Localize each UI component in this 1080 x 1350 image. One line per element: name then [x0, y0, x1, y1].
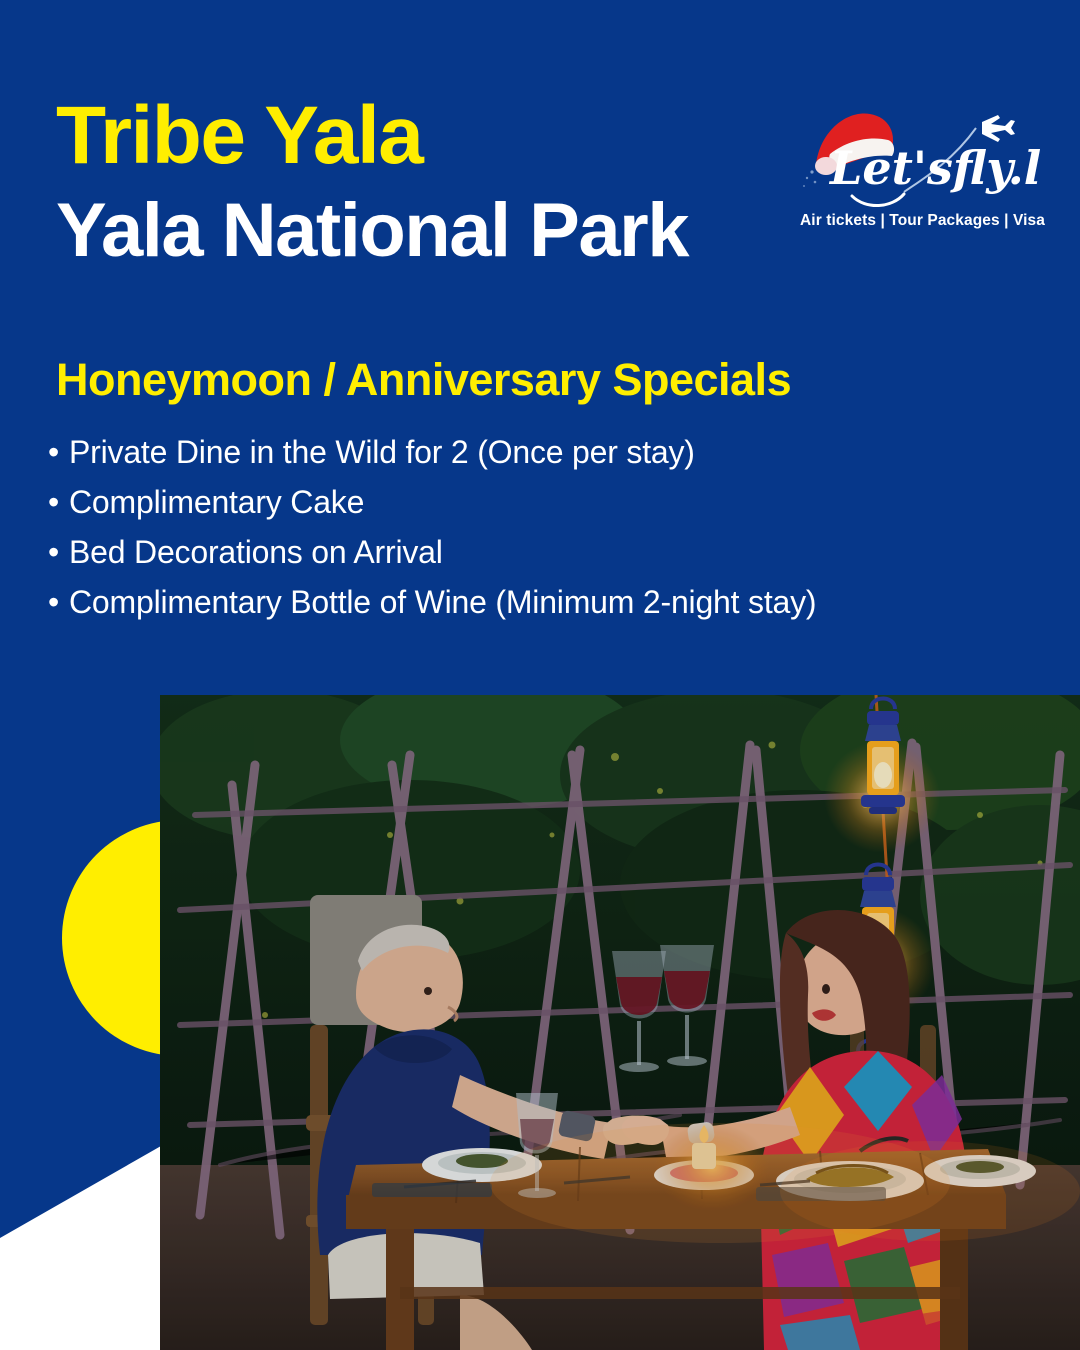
brand-logo[interactable]: Let'sfly.lk Air tickets | Tour Packages … [800, 96, 1040, 246]
location-name: Yala National Park [56, 192, 688, 270]
bullet-icon: • [48, 534, 59, 570]
list-item: •Complimentary Bottle of Wine (Minimum 2… [48, 586, 816, 618]
offer-text: Private Dine in the Wild for 2 [69, 434, 477, 470]
bullet-icon: • [48, 484, 59, 520]
offer-text: Complimentary Bottle of Wine [69, 584, 495, 620]
offers-list: •Private Dine in the Wild for 2 (Once pe… [48, 436, 816, 636]
offer-text: Bed Decorations on Arrival [69, 534, 443, 570]
offer-subheading: Honeymoon / Anniversary Specials [56, 354, 791, 406]
promo-poster: Tribe Yala Yala National Park Honeymoon … [0, 0, 1080, 1350]
bullet-icon: • [48, 584, 59, 620]
white-wedge-decoration [0, 1120, 180, 1350]
logo-tagline: Air tickets | Tour Packages | Visa [800, 212, 1040, 230]
offer-note: (Minimum 2-night stay) [495, 584, 816, 620]
list-item: •Private Dine in the Wild for 2 (Once pe… [48, 436, 816, 468]
offer-text: Complimentary Cake [69, 484, 364, 520]
bullet-icon: • [48, 434, 59, 470]
hero-photo [160, 695, 1080, 1350]
list-item: •Complimentary Cake [48, 486, 816, 518]
airplane-icon [982, 115, 1015, 142]
offer-note: (Once per stay) [477, 434, 695, 470]
hotel-name: Tribe Yala [56, 96, 688, 176]
headline-block: Tribe Yala Yala National Park [56, 96, 688, 270]
brand-wordmark: Let'sfly.lk [828, 141, 1040, 195]
list-item: •Bed Decorations on Arrival [48, 536, 816, 568]
